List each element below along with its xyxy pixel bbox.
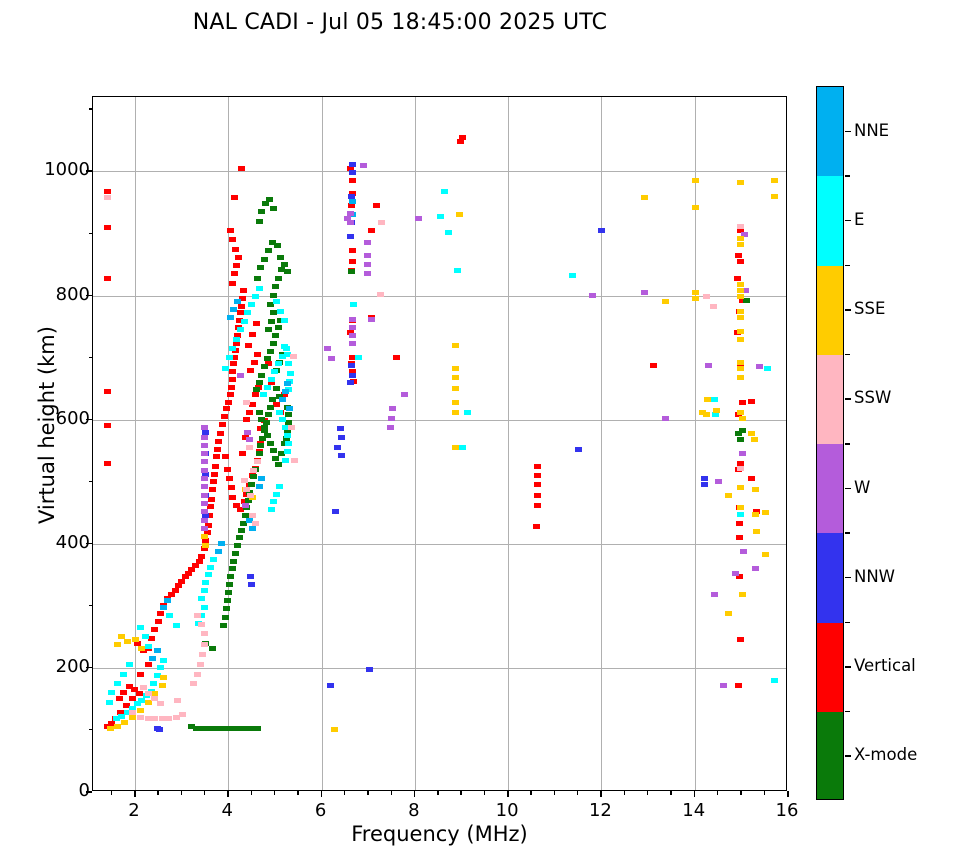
data-point (331, 727, 338, 732)
data-point (245, 343, 252, 348)
data-point (337, 426, 344, 431)
data-point (253, 321, 260, 326)
data-point (265, 327, 272, 332)
data-point (202, 543, 209, 548)
data-point (202, 580, 209, 585)
data-point (737, 242, 744, 247)
data-point (201, 501, 208, 506)
x-tick (600, 791, 602, 797)
data-point (279, 417, 286, 422)
data-point (349, 248, 356, 253)
data-point (221, 414, 228, 419)
data-point (227, 574, 234, 579)
data-point (264, 433, 271, 438)
colorbar-segment-nnw[interactable] (817, 533, 843, 623)
x-tick-minor (460, 791, 461, 795)
data-point (692, 205, 699, 210)
data-point (752, 512, 759, 517)
data-point (288, 425, 295, 430)
data-point (159, 683, 166, 688)
data-point (737, 437, 744, 442)
data-point (229, 566, 236, 571)
data-point (136, 691, 143, 696)
x-tick-label: 14 (664, 800, 724, 821)
data-point (201, 534, 208, 539)
data-point (266, 197, 273, 202)
colorbar-label-x-mode: X-mode (854, 745, 917, 764)
x-tick-minor (530, 791, 531, 795)
data-point (281, 344, 288, 349)
x-tick-minor (670, 791, 671, 795)
data-point (138, 646, 145, 651)
data-point (735, 683, 742, 688)
data-point (324, 346, 331, 351)
data-point (172, 588, 179, 593)
data-point (154, 648, 161, 653)
data-point (771, 178, 778, 183)
data-point (257, 265, 264, 270)
data-point (107, 726, 114, 731)
data-point (120, 690, 127, 695)
data-point (762, 510, 769, 515)
x-tick-minor (157, 791, 158, 795)
data-point (284, 449, 291, 454)
data-point (452, 400, 459, 405)
data-point (244, 310, 251, 315)
data-point (247, 368, 254, 373)
data-point (771, 678, 778, 683)
data-point (756, 364, 763, 369)
data-point (713, 408, 720, 413)
data-point (243, 400, 250, 405)
data-point (752, 487, 759, 492)
colorbar-tick (845, 488, 851, 490)
data-point (457, 139, 464, 144)
data-point (224, 598, 231, 603)
data-point (268, 377, 275, 382)
colorbar-tick (845, 666, 851, 668)
data-point (725, 611, 732, 616)
data-point (533, 524, 540, 529)
data-point (349, 333, 356, 338)
x-tick-minor (274, 791, 275, 795)
data-point (739, 400, 746, 405)
colorbar-segment-nne[interactable] (817, 87, 843, 177)
data-point (225, 400, 232, 405)
data-point (752, 566, 759, 571)
x-tick-label: 10 (477, 800, 537, 821)
x-tick (694, 791, 696, 797)
data-point (589, 293, 596, 298)
data-point (201, 425, 208, 430)
data-point (328, 356, 335, 361)
data-point (720, 683, 727, 688)
data-point (188, 567, 195, 572)
data-point (154, 726, 161, 731)
x-tick (787, 791, 789, 797)
data-point (247, 493, 254, 498)
data-point (215, 549, 222, 554)
data-point (137, 672, 144, 677)
data-point (230, 361, 237, 366)
data-point (740, 549, 747, 554)
data-point (211, 472, 218, 477)
data-point (116, 696, 123, 701)
data-point (282, 389, 289, 394)
y-tick-minor (89, 605, 93, 606)
data-point (173, 623, 180, 628)
data-point (114, 681, 121, 686)
data-point (751, 437, 758, 442)
x-tick (227, 791, 229, 797)
data-point (387, 425, 394, 430)
y-tick-label: 1000 (10, 159, 90, 180)
colorbar-segment-ssw[interactable] (817, 355, 843, 445)
data-point (269, 397, 276, 402)
data-point (737, 224, 744, 229)
data-point (227, 228, 234, 233)
data-point (258, 373, 265, 378)
data-point (232, 247, 239, 252)
data-point (348, 363, 355, 368)
x-tick-minor (204, 791, 205, 795)
data-point (650, 363, 657, 368)
data-point (364, 240, 371, 245)
data-point (256, 410, 263, 415)
colorbar-segment-w[interactable] (817, 444, 843, 534)
colorbar-tick (845, 577, 851, 579)
colorbar[interactable] (816, 86, 844, 800)
data-point (737, 259, 744, 264)
plot-area (92, 96, 787, 791)
data-point (270, 341, 277, 346)
data-point (137, 625, 144, 630)
data-point (234, 543, 241, 548)
x-tick-minor (740, 791, 741, 795)
data-point (338, 453, 345, 458)
data-point (201, 642, 208, 647)
data-point (272, 333, 279, 338)
data-point (272, 284, 279, 289)
data-point (253, 387, 260, 392)
data-point (210, 557, 217, 562)
data-point (273, 299, 280, 304)
data-point (126, 662, 133, 667)
data-point (246, 445, 253, 450)
data-point (249, 526, 256, 531)
data-point (160, 675, 167, 680)
x-tick-minor (554, 791, 555, 795)
data-point (456, 212, 463, 217)
data-point (710, 304, 717, 309)
data-point (360, 163, 367, 168)
data-point (662, 416, 669, 421)
data-point (534, 473, 541, 478)
y-tick-label: 200 (10, 656, 90, 677)
data-point (114, 642, 121, 647)
data-point (237, 310, 244, 315)
data-point (349, 170, 356, 175)
data-point (290, 354, 297, 359)
x-axis-label: Frequency (MHz) (92, 822, 787, 846)
data-point (209, 487, 216, 492)
data-point (222, 615, 229, 620)
data-point (737, 236, 744, 241)
data-point (190, 681, 197, 686)
data-point (201, 509, 208, 514)
colorbar-boundary-tick (845, 175, 850, 177)
data-point (332, 509, 339, 514)
data-point (711, 397, 718, 402)
data-point (258, 209, 265, 214)
data-point (445, 230, 452, 235)
data-point (220, 623, 227, 628)
data-point (198, 596, 205, 601)
data-point (275, 325, 282, 330)
data-point (260, 392, 267, 397)
colorbar-boundary-tick (845, 711, 850, 713)
data-point (201, 435, 208, 440)
colorbar-tick (845, 220, 851, 222)
data-point (201, 468, 208, 473)
data-point (246, 410, 253, 415)
data-point (201, 526, 208, 531)
data-point (231, 271, 238, 276)
data-point (226, 355, 233, 360)
data-point (201, 605, 208, 610)
data-point (201, 459, 208, 464)
colorbar-tick (845, 131, 851, 133)
colorbar-label-nnw: NNW (854, 567, 895, 586)
colorbar-segment-vertical[interactable] (817, 623, 843, 713)
data-point (452, 366, 459, 371)
data-point (279, 397, 286, 402)
data-point (401, 392, 408, 397)
data-point (735, 253, 742, 258)
data-point (151, 716, 158, 721)
data-point (762, 552, 769, 557)
data-point (249, 332, 256, 337)
data-point (388, 416, 395, 421)
data-point (377, 292, 384, 297)
data-point (368, 228, 375, 233)
data-point (137, 715, 144, 720)
data-point (350, 302, 357, 307)
data-point (276, 410, 283, 415)
data-point (712, 412, 719, 417)
data-point (348, 194, 355, 199)
data-point (198, 622, 205, 627)
colorbar-boundary-tick (845, 622, 850, 624)
data-point (282, 458, 289, 463)
data-point (285, 361, 292, 366)
data-point (104, 276, 111, 281)
data-point (344, 216, 351, 221)
data-point (222, 366, 229, 371)
data-point (692, 296, 699, 301)
data-point (252, 294, 259, 299)
data-point (246, 437, 253, 442)
x-tick-minor (437, 791, 438, 795)
data-point (142, 634, 149, 639)
colorbar-segment-x-mode[interactable] (817, 712, 843, 800)
data-point (464, 410, 471, 415)
data-point (267, 441, 274, 446)
data-point (378, 220, 385, 225)
data-point (175, 583, 182, 588)
data-point (334, 445, 341, 450)
data-point (569, 273, 576, 278)
data-point (715, 479, 722, 484)
data-point (201, 443, 208, 448)
x-tick-label: 16 (757, 800, 817, 821)
x-tick-minor (344, 791, 345, 795)
data-point (238, 528, 245, 533)
data-point (284, 381, 291, 386)
data-point (366, 667, 373, 672)
data-point (140, 685, 147, 690)
data-point (164, 598, 171, 603)
data-point (157, 665, 164, 670)
data-point (256, 484, 263, 489)
data-point (701, 482, 708, 487)
data-point (243, 487, 250, 492)
data-point (703, 294, 710, 299)
x-tick (321, 791, 323, 797)
data-point (265, 248, 272, 253)
data-point (201, 493, 208, 498)
x-tick-label: 8 (384, 800, 444, 821)
data-point (349, 259, 356, 264)
data-point (267, 405, 274, 410)
data-point (228, 485, 235, 490)
data-point (227, 392, 234, 397)
x-tick-minor (297, 791, 298, 795)
data-point (224, 467, 231, 472)
colorbar-segment-sse[interactable] (817, 266, 843, 356)
data-point (228, 385, 235, 390)
data-point (534, 464, 541, 469)
data-point (205, 572, 212, 577)
data-point (257, 443, 264, 448)
colorbar-boundary-tick (845, 354, 850, 356)
data-point (737, 466, 744, 471)
data-point (210, 479, 217, 484)
data-point (155, 619, 162, 624)
data-point (270, 206, 277, 211)
data-point (736, 521, 743, 526)
data-point (254, 352, 261, 357)
x-tick (507, 791, 509, 797)
data-point (286, 406, 293, 411)
data-point (227, 315, 234, 320)
data-point (194, 613, 201, 618)
data-point (150, 681, 157, 686)
data-point (737, 288, 744, 293)
data-point (241, 319, 248, 324)
data-point (598, 228, 605, 233)
data-point (157, 701, 164, 706)
data-point (284, 269, 291, 274)
data-point (237, 327, 244, 332)
data-point (137, 708, 144, 713)
data-point (273, 402, 280, 407)
data-point (349, 341, 356, 346)
x-tick (134, 791, 136, 797)
data-point (270, 293, 277, 298)
data-point (454, 268, 461, 273)
data-point (149, 656, 156, 661)
data-point (223, 606, 230, 611)
data-point (248, 582, 255, 587)
data-point (277, 309, 284, 314)
data-point (229, 346, 236, 351)
data-point (232, 551, 239, 556)
y-axis-label: Virtual height (km) (35, 225, 59, 625)
data-point (201, 631, 208, 636)
data-point (104, 389, 111, 394)
data-point (104, 225, 111, 230)
data-point (267, 349, 274, 354)
data-point (207, 504, 214, 509)
data-point (347, 380, 354, 385)
data-point (201, 451, 208, 456)
data-point (198, 554, 205, 559)
data-point (437, 214, 444, 219)
data-point (355, 355, 362, 360)
data-point (287, 371, 294, 376)
data-point (256, 286, 263, 291)
data-point (452, 445, 459, 450)
x-tick-minor (111, 791, 112, 795)
data-point (230, 559, 237, 564)
data-point (273, 492, 280, 497)
data-point (452, 410, 459, 415)
data-point (201, 518, 208, 523)
data-point (734, 276, 741, 281)
data-point (285, 441, 292, 446)
colorbar-boundary-tick (845, 265, 850, 267)
x-tick-minor (367, 791, 368, 795)
data-point (226, 476, 233, 481)
x-tick-minor (577, 791, 578, 795)
data-point (201, 588, 208, 593)
data-point (108, 690, 115, 695)
data-point (737, 485, 744, 490)
data-point (705, 363, 712, 368)
x-tick-label: 12 (570, 800, 630, 821)
data-point (252, 392, 259, 397)
data-point (234, 299, 241, 304)
data-point (104, 189, 111, 194)
data-point (145, 662, 152, 667)
data-point (250, 474, 257, 479)
data-point (349, 325, 356, 330)
page-title: NAL CADI - Jul 05 18:45:00 2025 UTC (0, 10, 800, 35)
x-tick-label: 2 (104, 800, 164, 821)
y-tick-label: 0 (10, 780, 90, 801)
data-point (241, 478, 248, 483)
data-point (214, 447, 221, 452)
colorbar-label-nne: NNE (854, 121, 889, 140)
data-point (703, 412, 710, 417)
colorbar-segment-e[interactable] (817, 176, 843, 266)
data-point (415, 216, 422, 221)
data-point (271, 369, 278, 374)
x-tick-minor (647, 791, 648, 795)
data-point (739, 451, 746, 456)
data-point (238, 304, 245, 309)
